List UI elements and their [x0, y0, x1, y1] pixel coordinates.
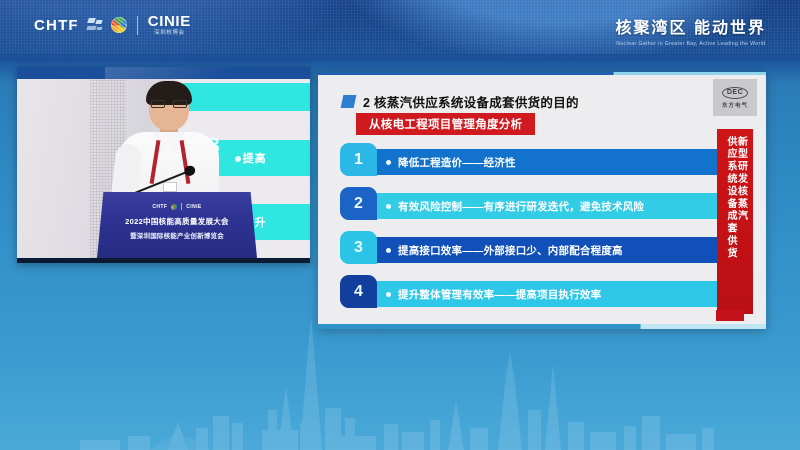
- item-text: 提高接口效率——外部接口少、内部配合程度高: [398, 243, 623, 258]
- list-item: 2 有效风险控制——有序进行研发迭代，避免技术风险: [340, 191, 744, 221]
- item-bullet-dot-icon: [386, 160, 391, 165]
- slide-item-list: 1 降低工程造价——经济性 2 有效风险控制——有序进行研发迭代，避免技术风险 …: [340, 147, 744, 323]
- dec-logo-abbr: DEC: [722, 87, 748, 99]
- slide-title-row: 2 核蒸汽供应系统设备成套供货的目的: [342, 92, 579, 111]
- item-number-badge: 2: [340, 187, 377, 220]
- item-bullet-dot-icon: [386, 292, 391, 297]
- slide-footer-red-chip: [716, 310, 744, 321]
- presenter-badge: [163, 182, 177, 192]
- podium-orb-icon: [171, 204, 177, 210]
- red-banner-column-right: 新型研发核蒸汽: [735, 136, 746, 314]
- podium-cinie-text: CINIE: [186, 204, 201, 210]
- item-text: 有效风险控制——有序进行研发迭代，避免技术风险: [398, 199, 644, 214]
- slogan-english: Nuclear Gather in Greater Bay, Active Le…: [616, 41, 766, 47]
- presentation-slide[interactable]: 2 核蒸汽供应系统设备成套供货的目的 从核电工程项目管理角度分析 1 降低工程造…: [318, 72, 766, 329]
- podium-chtf-text: CHTF: [152, 204, 167, 210]
- cinie-logo-subtext: 深圳核博会: [154, 31, 185, 37]
- item-bar: 提高接口效率——外部接口少、内部配合程度高: [366, 237, 744, 263]
- cinie-orb-icon: [111, 17, 127, 33]
- item-bar: 降低工程造价——经济性: [366, 149, 744, 175]
- podium-logo-group: CHTF CINIE: [97, 203, 257, 210]
- header-logo-group: CHTF CINIE 深圳核博会: [34, 14, 191, 37]
- title-bullet-square-icon: [341, 95, 357, 108]
- slogan-chinese: 核聚湾区 能动世界: [616, 14, 766, 38]
- chtf-logo-text: CHTF: [34, 17, 79, 34]
- list-item: 4 提升整体管理有效率——提高项目执行效率: [340, 279, 744, 309]
- item-bullet-dot-icon: [386, 248, 391, 253]
- header-slogan: 核聚湾区 能动世界 Nuclear Gather in Greater Bay,…: [616, 14, 766, 47]
- presenter-video-panel[interactable]: 提高 提升 3: [17, 67, 310, 263]
- podium-line-2: 暨深圳国际核能产业创新博览会: [97, 230, 257, 240]
- slide-bottom-accent: [318, 324, 766, 329]
- slide-subtitle-banner: 从核电工程项目管理角度分析: [356, 113, 535, 135]
- item-number-badge: 4: [340, 275, 377, 308]
- podium-line-1: 2022中国核能高质量发展大会: [97, 216, 257, 227]
- logo-divider: [137, 16, 138, 35]
- item-number-badge: 1: [340, 143, 377, 176]
- video-frame: 提高 提升 3: [17, 79, 310, 258]
- video-top-strip: [17, 67, 310, 79]
- podium: CHTF CINIE 2022中国核能高质量发展大会 暨深圳国际核能产业创新博览…: [97, 192, 257, 258]
- item-bullet-dot-icon: [386, 204, 391, 209]
- slide-title-text: 2 核蒸汽供应系统设备成套供货的目的: [363, 92, 579, 111]
- item-bar: 提升整体管理有效率——提高项目执行效率: [366, 281, 744, 307]
- satellite-mark-icon: [86, 17, 104, 33]
- bg-slide-text-1: 提高: [243, 150, 267, 166]
- item-number-badge: 3: [340, 231, 377, 264]
- screenshot-stage: CHTF CINIE 深圳核博会 核聚湾区 能动世界 Nuclear Gathe…: [0, 0, 800, 450]
- slide-top-accent: [318, 72, 766, 75]
- list-item: 3 提高接口效率——外部接口少、内部配合程度高: [340, 235, 744, 265]
- list-item: 1 降低工程造价——经济性: [340, 147, 744, 177]
- dec-logo: DEC 东方电气: [713, 79, 757, 116]
- cinie-logo-text: CINIE: [148, 14, 191, 29]
- red-banner-column-left: 供应系统设备成套供货: [725, 136, 736, 314]
- item-bar: 有效风险控制——有序进行研发迭代，避免技术风险: [366, 193, 744, 219]
- item-text: 降低工程造价——经济性: [398, 155, 516, 170]
- dec-logo-chinese: 东方电气: [722, 101, 748, 109]
- item-text: 提升整体管理有效率——提高项目执行效率: [398, 287, 601, 302]
- glasses-icon: [151, 100, 187, 108]
- cinie-logo-group: CINIE 深圳核博会: [148, 14, 191, 37]
- slide-side-red-banner: 供应系统设备成套供货 新型研发核蒸汽: [717, 129, 753, 314]
